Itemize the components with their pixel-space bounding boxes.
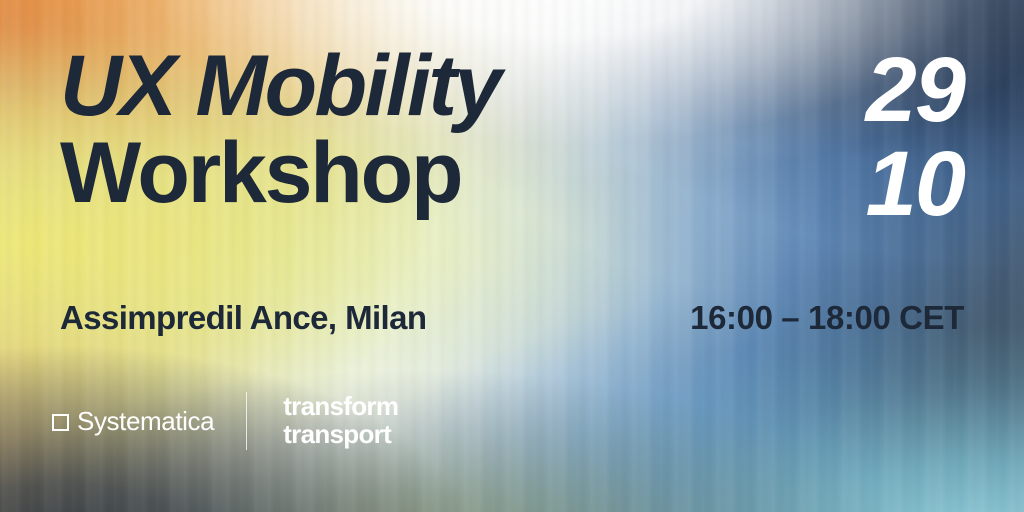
event-venue: Assimpredil Ance, Milan (60, 299, 426, 337)
event-title: UX Mobility Workshop (60, 44, 500, 216)
banner-content: UX Mobility Workshop Assimpredil Ance, M… (0, 0, 1024, 512)
logo-lockup: Systematica transform transport (52, 390, 398, 452)
event-date-month: 10 (866, 138, 964, 232)
event-title-line-1: UX Mobility (60, 44, 500, 129)
logo-transform-transport-line-1: transform (283, 393, 398, 421)
event-title-line-2: Workshop (60, 131, 500, 216)
logo-systematica-label: Systematica (77, 406, 214, 437)
event-date: 29 10 (866, 44, 964, 232)
event-time: 16:00 – 18:00 CET (690, 299, 964, 337)
square-outline-icon (52, 414, 69, 431)
logo-transform-transport-line-2: transport (283, 421, 398, 449)
event-date-day: 29 (866, 44, 964, 138)
logo-systematica: Systematica (52, 406, 214, 437)
logo-divider (246, 392, 247, 450)
logo-transform-transport: transform transport (283, 393, 398, 448)
event-banner: UX Mobility Workshop Assimpredil Ance, M… (0, 0, 1024, 512)
